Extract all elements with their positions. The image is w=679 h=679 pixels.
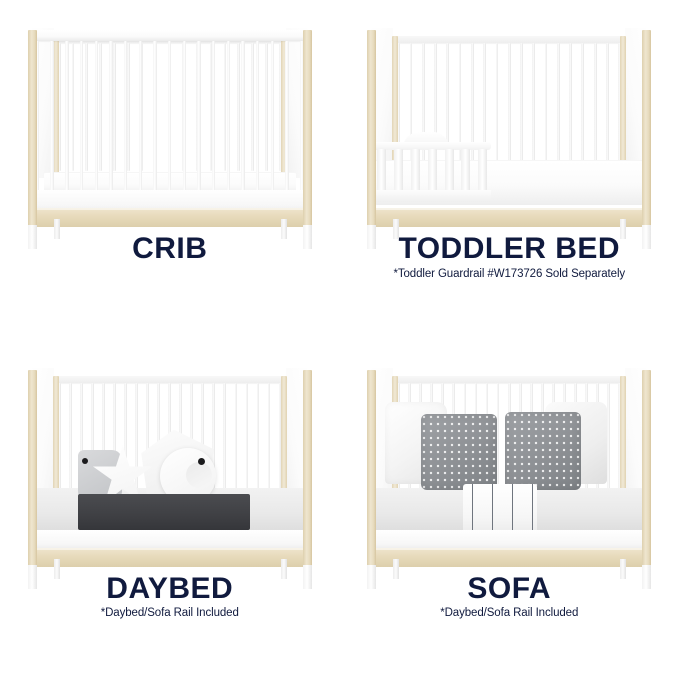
sofa-note: *Daybed/Sofa Rail Included [340, 607, 679, 619]
front-left-leg [367, 565, 376, 589]
grey-dotted-pillow-left [421, 414, 497, 490]
back-top-rail [392, 36, 626, 43]
panel-daybed: DAYBED *Daybed/Sofa Rail Included [0, 340, 340, 679]
front-left-leg [28, 565, 37, 589]
product-configuration-board: CRIB [0, 0, 679, 679]
front-right-leg [303, 565, 312, 589]
crib-illustration [20, 14, 320, 229]
sofa-caption: SOFA *Daybed/Sofa Rail Included [340, 573, 679, 620]
toddler-bed-caption: TODDLER BED *Toddler Guardrail #W173726 … [340, 233, 679, 280]
front-left-post [367, 30, 376, 226]
guardrail-bottom-rail [373, 190, 491, 202]
back-right-post [620, 36, 626, 176]
front-left-leg [28, 225, 37, 249]
daybed-illustration [20, 354, 320, 569]
back-right-leg [620, 219, 626, 239]
toddler-bed-illustration [359, 14, 659, 229]
daybed-note: *Daybed/Sofa Rail Included [0, 607, 340, 619]
front-right-leg [303, 225, 312, 249]
back-right-leg [620, 559, 626, 579]
back-right-leg [281, 559, 287, 579]
daybed-front-rail [30, 530, 310, 550]
toddler-bed-title: TODDLER BED [340, 233, 679, 265]
front-left-post [28, 30, 37, 226]
crib-caption: CRIB [0, 233, 340, 265]
wood-base-band [367, 548, 651, 567]
toddler-bed-note: *Toddler Guardrail #W173726 Sold Separat… [340, 268, 679, 280]
back-top-rail [392, 376, 626, 383]
back-left-leg [393, 219, 399, 239]
toddler-guardrail [373, 132, 491, 204]
back-left-leg [54, 219, 60, 239]
front-right-post [642, 30, 651, 226]
wood-base-band [367, 208, 651, 227]
sofa-title: SOFA [340, 573, 679, 605]
front-right-leg [642, 565, 651, 589]
guardrail-slats [377, 149, 487, 192]
daybed-caption: DAYBED *Daybed/Sofa Rail Included [0, 573, 340, 620]
front-right-post [303, 370, 312, 566]
crib-title: CRIB [0, 233, 340, 265]
wedge-pillow-eye [82, 458, 88, 464]
back-top-rail [53, 376, 287, 383]
back-left-leg [393, 559, 399, 579]
daybed-blanket [78, 494, 250, 530]
back-left-leg [54, 559, 60, 579]
front-slat-panel [36, 41, 304, 201]
daybed-title: DAYBED [0, 573, 340, 605]
panel-sofa: SOFA *Daybed/Sofa Rail Included [340, 340, 679, 679]
sofa-illustration [359, 354, 659, 569]
front-right-post [642, 370, 651, 566]
front-right-post [303, 30, 312, 226]
panel-crib: CRIB [0, 0, 340, 340]
front-top-rail [28, 30, 312, 41]
back-right-leg [281, 219, 287, 239]
sofa-throw-blanket [463, 484, 537, 532]
front-left-post [367, 370, 376, 566]
panel-toddler-bed: TODDLER BED *Toddler Guardrail #W173726 … [340, 0, 679, 340]
front-left-post [28, 370, 37, 566]
front-left-leg [367, 225, 376, 249]
wood-base-band [28, 548, 312, 567]
grey-dotted-pillow-right [505, 412, 581, 490]
moon-pillow-eye [198, 458, 205, 465]
front-right-leg [642, 225, 651, 249]
wood-base-band [28, 208, 312, 227]
sofa-front-rail [369, 530, 649, 550]
